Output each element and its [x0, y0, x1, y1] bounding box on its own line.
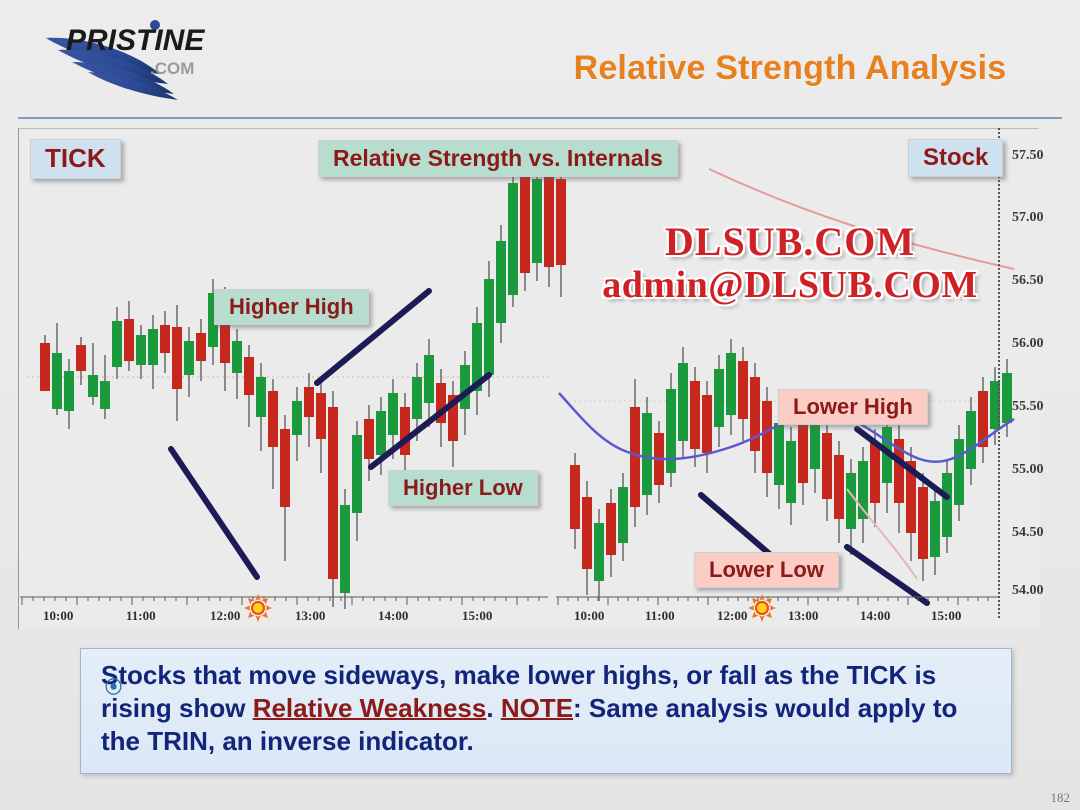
label-higher-high: Higher High — [214, 289, 369, 325]
x-tick-right-4: 14:00 — [860, 608, 890, 624]
y-tick-3: 56.00 — [1012, 336, 1044, 352]
x-tick-left-4: 14:00 — [378, 608, 408, 624]
page-number: 182 — [1051, 790, 1071, 806]
caption-emphasis-2: NOTE — [501, 693, 573, 723]
chart-plot-area — [19, 129, 1039, 629]
label-tick: TICK — [30, 139, 121, 179]
label-lower-high: Lower High — [778, 389, 928, 425]
logo-wordmark: PRISTINE — [66, 24, 205, 57]
y-tick-1: 57.00 — [1012, 210, 1044, 226]
x-tick-left-2: 12:00 — [210, 608, 240, 624]
x-axis-ruler-right — [556, 596, 998, 608]
y-tick-2: 56.50 — [1012, 273, 1044, 289]
x-tick-right-1: 11:00 — [645, 608, 675, 624]
x-tick-left-1: 11:00 — [126, 608, 156, 624]
x-tick-right-5: 15:00 — [931, 608, 961, 624]
slide-root: PRISTINE .COM Relative Strength Analysis — [0, 0, 1080, 810]
label-higher-low: Higher Low — [388, 470, 538, 506]
x-axis-ruler-left — [20, 596, 548, 608]
header-divider — [18, 117, 1062, 119]
label-lower-low: Lower Low — [694, 552, 839, 588]
sun-marker-icon-right — [748, 594, 776, 622]
x-tick-right-0: 10:00 — [574, 608, 604, 624]
logo-domain-suffix: .COM — [150, 59, 194, 78]
chart-frame — [18, 128, 1039, 629]
x-tick-right-3: 13:00 — [788, 608, 818, 624]
caption-box: ⦿ Stocks that move sideways, make lower … — [80, 648, 1012, 774]
x-tick-left-5: 15:00 — [462, 608, 492, 624]
y-axis: 57.50 57.00 56.50 56.00 55.50 55.00 54.5… — [998, 128, 1080, 628]
caption-part-2: . — [486, 693, 500, 723]
x-axis-labels-right: 10:00 11:00 12:00 13:00 14:00 15:00 — [556, 608, 998, 628]
label-stock: Stock — [908, 139, 1003, 177]
y-tick-5: 55.00 — [1012, 462, 1044, 478]
x-axis-labels-left: 10:00 11:00 12:00 13:00 14:00 15:00 — [20, 608, 548, 628]
caption-text: ⦿ Stocks that move sideways, make lower … — [101, 659, 996, 758]
x-tick-left-0: 10:00 — [43, 608, 73, 624]
sun-marker-icon-left — [244, 594, 272, 622]
x-tick-left-3: 13:00 — [295, 608, 325, 624]
pristine-logo: PRISTINE .COM — [42, 16, 272, 102]
label-relative-strength: Relative Strength vs. Internals — [318, 140, 678, 177]
y-tick-4: 55.50 — [1012, 399, 1044, 415]
x-tick-right-2: 12:00 — [717, 608, 747, 624]
y-tick-7: 54.00 — [1012, 583, 1044, 599]
y-tick-0: 57.50 — [1012, 148, 1044, 164]
page-title: Relative Strength Analysis — [520, 44, 1060, 92]
caption-emphasis-1: Relative Weakness — [253, 693, 487, 723]
bullet-icon: ⦿ — [105, 677, 122, 699]
y-axis-line — [998, 128, 1000, 618]
y-tick-6: 54.50 — [1012, 525, 1044, 541]
